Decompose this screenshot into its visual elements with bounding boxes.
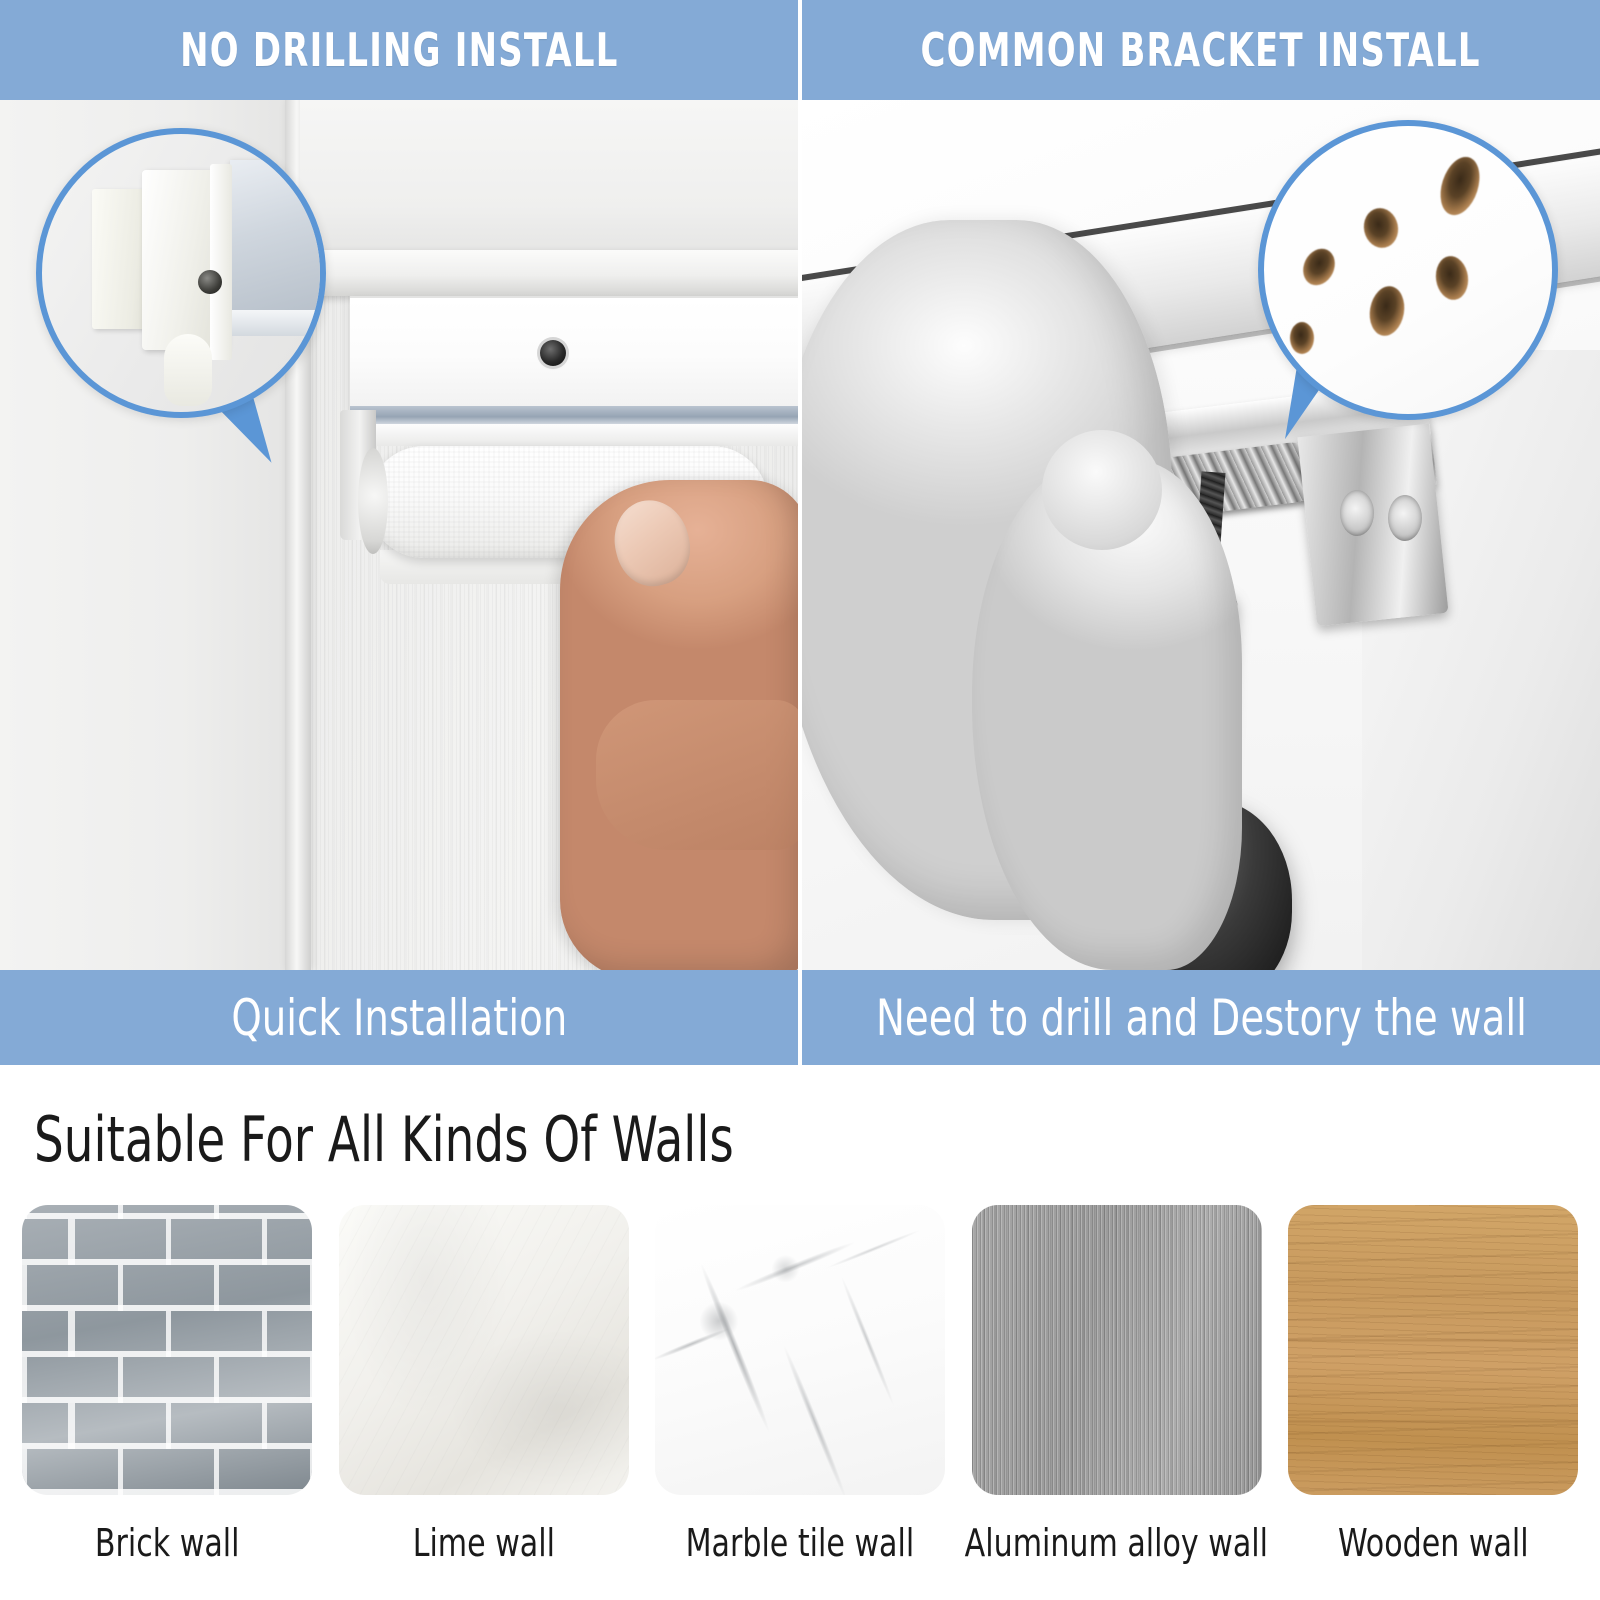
wall-swatch-wood: Wooden wall: [1288, 1205, 1578, 1565]
fingertip: [1042, 430, 1162, 550]
cabinet-face: [300, 100, 798, 252]
drill-hole: [1297, 243, 1341, 290]
holder-bar-underside: [230, 310, 326, 336]
drill-hole: [1360, 205, 1402, 251]
wall-swatch-label: Brick wall: [95, 1521, 240, 1565]
wall-swatch-label: Lime wall: [412, 1521, 554, 1565]
suitable-walls-section: Suitable For All Kinds Of Walls Brick wa…: [0, 1065, 1600, 1600]
wall-damage-callout: [1258, 120, 1558, 420]
wall-swatch-lime: Lime wall: [339, 1205, 629, 1565]
drill-hole: [1434, 152, 1487, 220]
clip-detail-callout: [36, 128, 326, 418]
left-panel-footer: Quick Installation: [0, 970, 798, 1065]
wall-swatch-brick: Brick wall: [22, 1205, 312, 1565]
left-panel-photo: [0, 100, 798, 970]
wall-swatch-label: Aluminum alloy wall: [965, 1521, 1268, 1565]
wall-swatch-label: Marble tile wall: [686, 1521, 915, 1565]
bracket-screw-hole: [1388, 495, 1422, 541]
comparison-section: NO DRILLING INSTALL: [0, 0, 1600, 1065]
panel-no-drilling: NO DRILLING INSTALL: [0, 0, 798, 1065]
left-panel-footer-label: Quick Installation: [231, 989, 567, 1047]
hand-knuckles: [596, 700, 798, 850]
marble-texture-tile: [655, 1205, 945, 1495]
brick-texture-tile: [22, 1205, 312, 1495]
holder-lip: [350, 424, 798, 446]
wall-swatch-row: Brick wall Lime wall Marble tile wall Al…: [0, 1205, 1600, 1565]
bracket-screw-hole: [1340, 490, 1374, 536]
clip-release-tab: [164, 334, 212, 406]
aluminum-texture-tile: [972, 1205, 1262, 1495]
holder-bar-end: [230, 160, 326, 310]
left-panel-header: NO DRILLING INSTALL: [0, 0, 798, 100]
wall-swatch-aluminum: Aluminum alloy wall: [972, 1205, 1262, 1565]
left-panel-header-label: NO DRILLING INSTALL: [180, 23, 618, 77]
towel-roll-end: [358, 448, 388, 554]
bracket-arm: [1297, 424, 1448, 627]
drill-hole: [1433, 254, 1471, 302]
cabinet-underside: [300, 250, 798, 296]
clip-arm: [210, 164, 232, 360]
drill-hole: [1366, 283, 1408, 338]
right-panel-footer-label: Need to drill and Destory the wall: [876, 989, 1527, 1047]
panel-common-bracket: COMMON BRACKET INSTALL: [802, 0, 1600, 1065]
drill-hole: [1290, 322, 1314, 354]
right-panel-footer: Need to drill and Destory the wall: [802, 970, 1600, 1065]
lime-texture-tile: [339, 1205, 629, 1495]
paper-towel-holder-body: [350, 296, 798, 412]
right-panel-photo: [802, 100, 1600, 970]
holder-rail: [350, 406, 798, 424]
wall-swatch-label: Wooden wall: [1338, 1521, 1529, 1565]
walls-section-title: Suitable For All Kinds Of Walls: [34, 1103, 734, 1176]
clip-screw-icon: [198, 270, 222, 294]
holder-screw-icon: [540, 340, 566, 366]
wall-swatch-marble: Marble tile wall: [655, 1205, 945, 1565]
right-panel-header-label: COMMON BRACKET INSTALL: [921, 23, 1481, 77]
right-panel-header: COMMON BRACKET INSTALL: [802, 0, 1600, 100]
wood-texture-tile: [1288, 1205, 1578, 1495]
